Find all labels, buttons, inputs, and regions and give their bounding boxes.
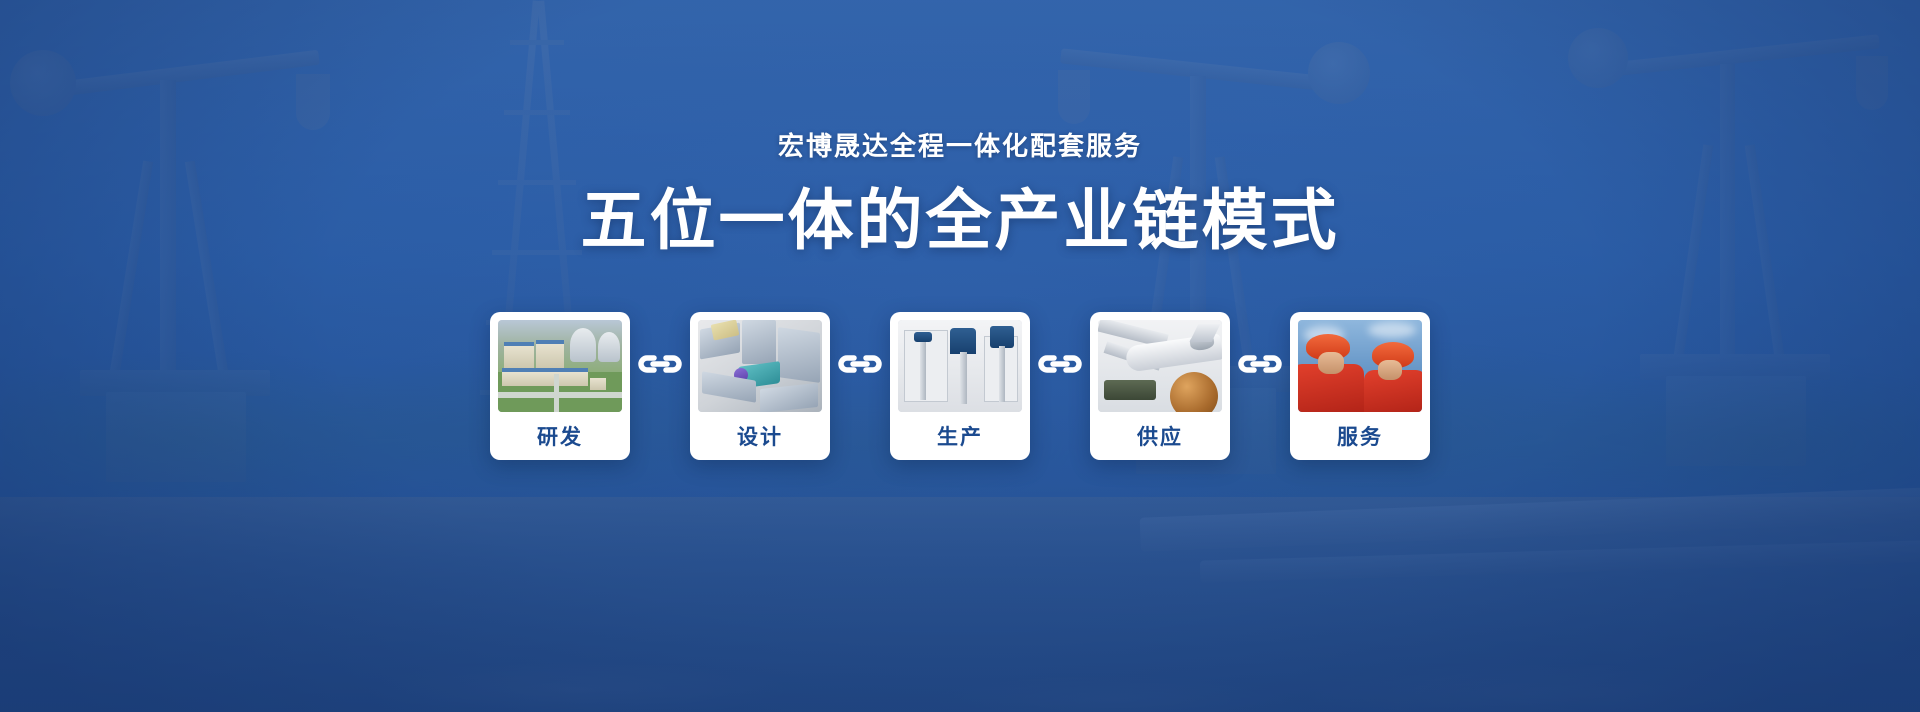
- value-chain-row: 研发: [490, 312, 1430, 460]
- banner-subtitle: 宏博晟达全程一体化配套服务: [778, 126, 1142, 163]
- chain-link-icon: [1032, 350, 1088, 378]
- thumbnail-industrial-plant: [498, 320, 622, 412]
- chain-card-research[interactable]: 研发: [490, 312, 630, 460]
- banner-title: 五位一体的全产业链模式: [581, 185, 1340, 256]
- banner-content: 宏博晟达全程一体化配套服务 五位一体的全产业链模式: [0, 0, 1920, 712]
- chain-card-design[interactable]: 设计: [690, 312, 830, 460]
- chain-card-label: 供应: [1137, 412, 1183, 460]
- hero-banner: 宏博晟达全程一体化配套服务 五位一体的全产业链模式: [0, 0, 1920, 712]
- chain-link-icon: [832, 350, 888, 378]
- chain-card-label: 生产: [937, 412, 983, 460]
- chain-card-production[interactable]: 生产: [890, 312, 1030, 460]
- chain-card-label: 服务: [1337, 412, 1383, 460]
- thumbnail-instruments: [898, 320, 1022, 412]
- chain-link-icon: [1232, 350, 1288, 378]
- chain-card-supply[interactable]: 供应: [1090, 312, 1230, 460]
- thumbnail-field-workers: [1298, 320, 1422, 412]
- chain-card-label: 研发: [537, 412, 583, 460]
- chain-card-service[interactable]: 服务: [1290, 312, 1430, 460]
- thumbnail-cad-render: [698, 320, 822, 412]
- chain-link-icon: [632, 350, 688, 378]
- thumbnail-logistics: [1098, 320, 1222, 412]
- chain-card-label: 设计: [737, 412, 783, 460]
